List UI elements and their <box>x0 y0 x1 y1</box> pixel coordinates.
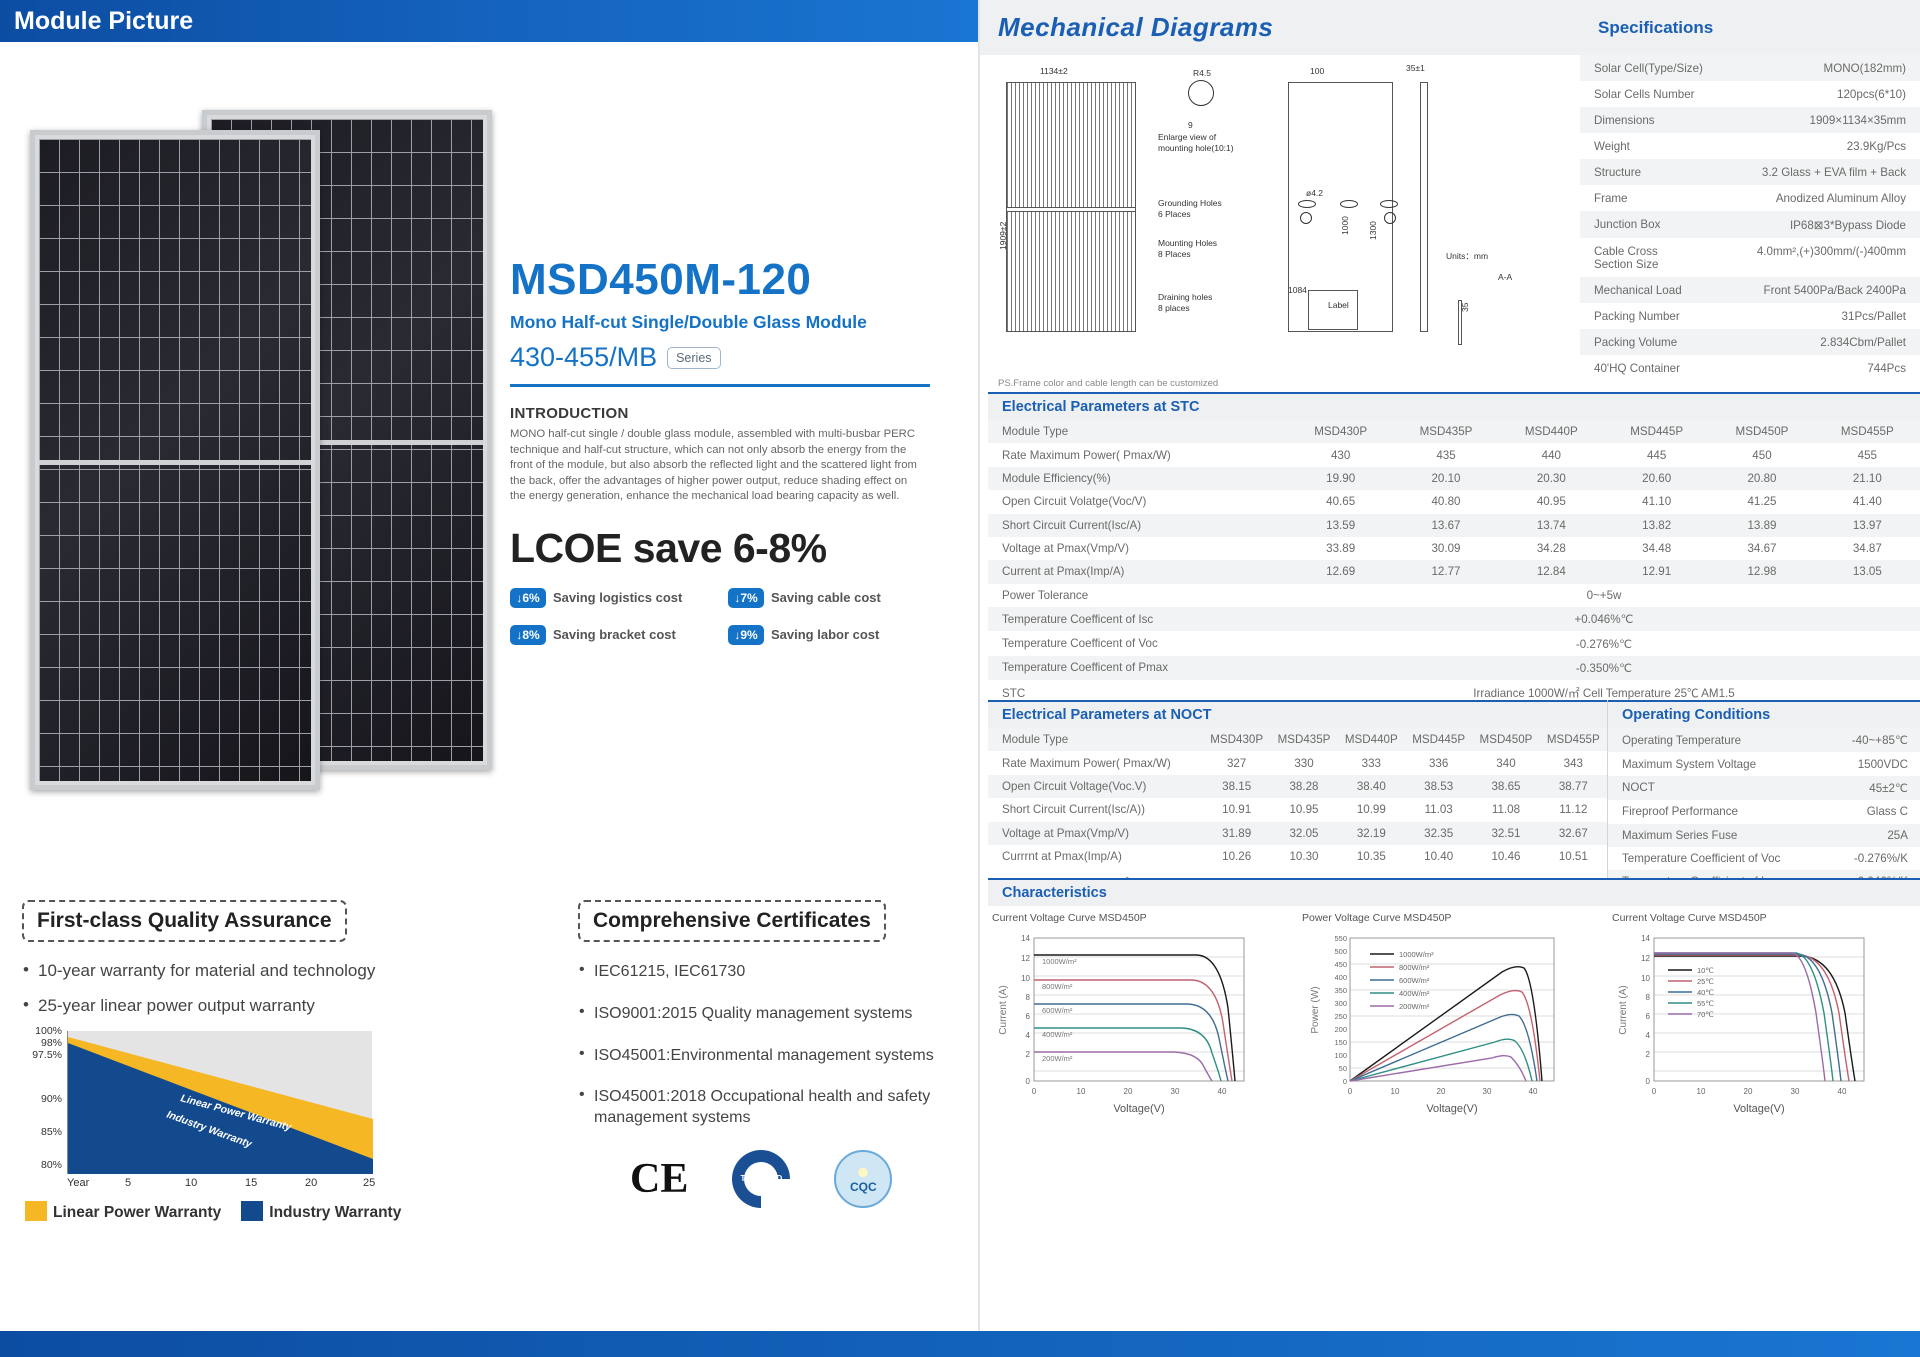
solar-panel-front <box>30 130 320 790</box>
cell: 38.53 <box>1405 775 1472 798</box>
cell: 445 <box>1604 443 1709 466</box>
cell: Glass C <box>1831 800 1920 823</box>
series-600 <box>1034 1004 1228 1081</box>
svg-text:40: 40 <box>1838 1087 1847 1096</box>
spec-value: 3.2 Glass + EVA film + Back <box>1762 166 1906 179</box>
y-ticks: 14 12 10 8 6 4 2 0 <box>1641 934 1650 1086</box>
table-row: Module Efficiency(%) 19.90 20.10 20.30 2… <box>988 467 1920 490</box>
svg-text:8: 8 <box>1026 993 1031 1002</box>
list-item: 25-year linear power output warranty <box>22 996 442 1016</box>
svg-text:300: 300 <box>1334 999 1347 1008</box>
cell: 12.84 <box>1499 560 1604 583</box>
title-divider <box>510 384 930 387</box>
y-tick-85: 85% <box>21 1126 67 1138</box>
ce-mark-icon: CE <box>630 1155 688 1203</box>
row-label: Rate Maximum Power( Pmax/W) <box>988 751 1203 774</box>
table-row: Open Circuit Voltage(Voc.V) 38.15 38.28 … <box>988 775 1607 798</box>
cell: 13.89 <box>1709 514 1814 537</box>
cell: MSD455P <box>1540 728 1607 751</box>
svg-text:800W/m²: 800W/m² <box>1042 982 1073 991</box>
label-draining-places: 8 places <box>1158 303 1190 313</box>
label-enlarge-1: Enlarge view of <box>1158 132 1216 142</box>
cell: 10.30 <box>1270 845 1337 868</box>
cell: 25A <box>1831 824 1920 847</box>
cell: 10.46 <box>1472 845 1539 868</box>
svg-text:14: 14 <box>1641 934 1650 943</box>
cell: 435 <box>1393 443 1498 466</box>
row-label: NOCT <box>1608 776 1831 800</box>
legend-label: 800W/m² <box>1399 963 1430 972</box>
svg-text:0: 0 <box>1343 1077 1347 1086</box>
svg-text:50: 50 <box>1339 1064 1347 1073</box>
table-row: Packing Volume2.834Cbm/Pallet <box>1580 329 1920 355</box>
y-tick-975: 97.5% <box>21 1049 67 1061</box>
operating-conditions-wrap: Operating Conditions Operating Temperatu… <box>1608 700 1920 895</box>
table-row: Temperature Coefficent of Isc +0.046%℃ <box>988 607 1920 631</box>
cell: 32.35 <box>1405 822 1472 845</box>
cell: 41.10 <box>1604 490 1709 513</box>
quality-assurance-title: First-class Quality Assurance <box>22 900 347 942</box>
legend: 1000W/m² 800W/m² 600W/m² 400W/m² 200W/m² <box>1370 950 1434 1011</box>
cell: 33.89 <box>1288 537 1393 560</box>
svg-text:0: 0 <box>1026 1077 1031 1086</box>
cell: 13.97 <box>1815 514 1920 537</box>
x-axis-label: Voltage(V) <box>1426 1103 1477 1115</box>
warranty-plot-area: Linear Power Warranty Industry Warranty <box>67 1031 372 1174</box>
dim-1134: 1134±2 <box>1040 66 1068 76</box>
mounting-oval-3 <box>1380 200 1398 208</box>
cell: 11.08 <box>1472 798 1539 821</box>
cell: MSD440P <box>1499 420 1604 443</box>
svg-text:10: 10 <box>1077 1087 1086 1096</box>
cell: 20.60 <box>1604 467 1709 490</box>
row-label: Temperature Coefficent of Isc <box>988 607 1288 631</box>
svg-text:30: 30 <box>1171 1087 1180 1096</box>
series-70c <box>1654 953 1825 1081</box>
y-axis-label: Current (A) <box>1618 985 1629 1034</box>
introduction-heading: INTRODUCTION <box>510 405 950 422</box>
cell: 21.10 <box>1815 467 1920 490</box>
legend-label: 70℃ <box>1697 1010 1714 1019</box>
row-label: Rate Maximum Power( Pmax/W) <box>988 443 1288 466</box>
warranty-chart: 100% 98% 97.5% 90% 85% 80% Linear Power … <box>67 1031 417 1191</box>
dim-1909: 1909±2 <box>998 222 1008 250</box>
saving-item: ↓7% Saving cable cost <box>728 588 946 608</box>
cell: MSD430P <box>1288 420 1393 443</box>
panel-edge-view <box>1420 82 1428 332</box>
svg-text:6: 6 <box>1646 1012 1651 1021</box>
chart-title: Power Voltage Curve MSD450P <box>1302 912 1604 924</box>
table-row: Fireproof PerformanceGlass C <box>1608 800 1920 823</box>
cell: MSD445P <box>1604 420 1709 443</box>
row-label: Power Tolerance <box>988 584 1288 607</box>
cell: 40.95 <box>1499 490 1604 513</box>
spec-key: Dimensions <box>1594 114 1655 127</box>
spec-key: Solar Cell(Type/Size) <box>1594 62 1703 75</box>
legend: 10℃ 25℃ 40℃ 55℃ 70℃ <box>1668 966 1714 1019</box>
list-item: IEC61215, IEC61730 <box>578 962 978 983</box>
svg-text:20: 20 <box>1124 1087 1133 1096</box>
label-mounting-places: 8 Places <box>1158 249 1191 259</box>
row-label: Maximum Series Fuse <box>1608 824 1831 847</box>
spec-key: Frame <box>1594 192 1628 205</box>
cell: 10.99 <box>1338 798 1405 821</box>
stc-table: Module Type MSD430P MSD435P MSD440P MSD4… <box>988 420 1920 707</box>
cell: 11.03 <box>1405 798 1472 821</box>
row-label: Currrnt at Pmax(Imp/A) <box>988 845 1203 868</box>
table-row: NOCT45±2℃ <box>1608 776 1920 800</box>
svg-text:550: 550 <box>1334 934 1347 943</box>
svg-text:8: 8 <box>1646 993 1651 1002</box>
table-row: Current at Pmax(Imp/A) 12.69 12.77 12.84… <box>988 560 1920 583</box>
specifications-table: Solar Cell(Type/Size)MONO(182mm) Solar C… <box>1580 55 1920 381</box>
module-picture-header: Module Picture <box>0 0 980 42</box>
legend-item-linear: Linear Power Warranty <box>25 1201 221 1222</box>
cell: 45±2℃ <box>1831 776 1920 800</box>
cell: 38.65 <box>1472 775 1539 798</box>
cell: 34.67 <box>1709 537 1814 560</box>
product-subtitle: Mono Half-cut Single/Double Glass Module <box>510 312 950 333</box>
series-badge: Series <box>667 347 720 369</box>
svg-text:20: 20 <box>1744 1087 1753 1096</box>
iv-temperature-chart: Current Voltage Curve MSD450P <box>1608 912 1918 1128</box>
table-row: Temperature Coefficent of Voc -0.276%℃ <box>988 631 1920 655</box>
noct-title: Electrical Parameters at NOCT <box>988 700 1607 728</box>
cell: 450 <box>1709 443 1814 466</box>
cell: 12.77 <box>1393 560 1498 583</box>
cell: 12.98 <box>1709 560 1814 583</box>
legend-label-linear: Linear Power Warranty <box>53 1204 221 1221</box>
cell: 32.05 <box>1270 822 1337 845</box>
cell: 38.28 <box>1270 775 1337 798</box>
list-item: 10-year warranty for material and techno… <box>22 961 442 981</box>
table-row: Maximum System Voltage1500VDC <box>1608 752 1920 775</box>
svg-text:400: 400 <box>1334 973 1347 982</box>
x-axis-label: Voltage(V) <box>1733 1103 1784 1115</box>
cell: MSD440P <box>1338 728 1405 751</box>
cell: 40.65 <box>1288 490 1393 513</box>
saving-item: ↓8% Saving bracket cost <box>510 625 728 645</box>
noct-section: Electrical Parameters at NOCT Module Typ… <box>988 700 1920 895</box>
certificates-list: IEC61215, IEC61730 ISO9001:2015 Quality … <box>578 962 978 1129</box>
spec-value: 120pcs(6*10) <box>1837 88 1906 101</box>
svg-text:30: 30 <box>1483 1087 1492 1096</box>
mechanical-diagrams-title: Mechanical Diagrams <box>998 12 1273 43</box>
spec-key: Weight <box>1594 140 1630 153</box>
svg-text:40: 40 <box>1529 1087 1538 1096</box>
cell: 11.12 <box>1540 798 1607 821</box>
warranty-legend: Linear Power Warranty Industry Warranty <box>25 1201 401 1222</box>
y-tick-98: 98% <box>21 1037 67 1049</box>
cell: -0.350%℃ <box>1288 656 1920 680</box>
row-label: Open Circuit Volatge(Voc/V) <box>988 490 1288 513</box>
svg-text:10: 10 <box>1391 1087 1400 1096</box>
svg-text:0: 0 <box>1652 1087 1657 1096</box>
cell: 38.77 <box>1540 775 1607 798</box>
row-label: Maximum System Voltage <box>1608 752 1831 775</box>
table-row: Module Type MSD430P MSD435P MSD440P MSD4… <box>988 728 1607 751</box>
dim-1084: 1084 <box>1288 285 1307 295</box>
label-grounding-places: 6 Places <box>1158 209 1191 219</box>
x-axis-label: Voltage(V) <box>1113 1103 1164 1115</box>
dim-9: 9 <box>1188 120 1193 130</box>
table-row: Cable Cross Section Size4.0mm²,(+)300mm/… <box>1580 238 1920 277</box>
saving-item: ↓6% Saving logistics cost <box>510 588 728 608</box>
cell: -0.276%/K <box>1831 847 1920 870</box>
certificates-section: Comprehensive Certificates IEC61215, IEC… <box>578 900 978 1208</box>
mechanical-note: PS.Frame color and cable length can be c… <box>998 378 1218 389</box>
cell: 41.40 <box>1815 490 1920 513</box>
cell: 10.51 <box>1540 845 1607 868</box>
cell: 12.91 <box>1604 560 1709 583</box>
table-row: Open Circuit Volatge(Voc/V) 40.65 40.80 … <box>988 490 1920 513</box>
cell: 40.80 <box>1393 490 1498 513</box>
saving-badge: ↓7% <box>728 588 764 608</box>
lcoe-headline: LCOE save 6-8% <box>510 525 950 572</box>
table-row: Operating Temperature-40~+85℃ <box>1608 728 1920 752</box>
characteristics-title: Characteristics <box>988 878 1920 906</box>
saving-item: ↓9% Saving labor cost <box>728 625 946 645</box>
svg-text:100: 100 <box>1334 1051 1347 1060</box>
cell: 20.30 <box>1499 467 1604 490</box>
pv-irradiance-svg: 550 500 450 400 350 300 250 200 150 100 … <box>1302 928 1602 1128</box>
table-row: Currrnt at Pmax(Imp/A) 10.26 10.30 10.35… <box>988 845 1607 868</box>
stc-section: Electrical Parameters at STC Module Type… <box>988 392 1920 725</box>
list-item: ISO9001:2015 Quality management systems <box>578 1004 978 1025</box>
cell: 20.80 <box>1709 467 1814 490</box>
table-row: Junction BoxIP68⊠3*Bypass Diode <box>1580 211 1920 238</box>
cell: MSD450P <box>1709 420 1814 443</box>
cell: 0~+5w <box>1288 584 1920 607</box>
legend-label: 40℃ <box>1697 988 1714 997</box>
cell: 12.69 <box>1288 560 1393 583</box>
certificates-title: Comprehensive Certificates <box>578 900 886 942</box>
cell: 13.67 <box>1393 514 1498 537</box>
y-tick-90: 90% <box>21 1093 67 1105</box>
cell: 20.10 <box>1393 467 1498 490</box>
row-label: Temperature Coefficent of Pmax <box>988 656 1288 680</box>
spec-value: MONO(182mm) <box>1824 62 1906 75</box>
legend-swatch-industry <box>241 1201 263 1221</box>
x-tick-15: 15 <box>245 1177 257 1189</box>
cell: 13.59 <box>1288 514 1393 537</box>
quality-assurance-section: First-class Quality Assurance 10-year wa… <box>22 900 442 1191</box>
spec-value: Anodized Aluminum Alloy <box>1776 192 1906 205</box>
legend-swatch-linear <box>25 1201 47 1221</box>
svg-text:20: 20 <box>1437 1087 1446 1096</box>
cell: 19.90 <box>1288 467 1393 490</box>
savings-grid: ↓6% Saving logistics cost ↓7% Saving cab… <box>510 588 950 645</box>
saving-badge: ↓8% <box>510 625 546 645</box>
cell: 34.28 <box>1499 537 1604 560</box>
row-label: Temperature Coefficient of Voc <box>1608 847 1831 870</box>
mechanical-diagrams-header: Mechanical Diagrams <box>980 0 1580 55</box>
legend-label-industry: Industry Warranty <box>269 1204 401 1221</box>
svg-text:200: 200 <box>1334 1025 1347 1034</box>
table-row: Maximum Series Fuse25A <box>1608 824 1920 847</box>
iv-irradiance-svg: 14 12 10 8 6 4 2 0 0 10 20 30 40 <box>992 928 1292 1128</box>
cell: 38.15 <box>1203 775 1270 798</box>
legend-label: 200W/m² <box>1399 1002 1430 1011</box>
spec-key: Junction Box <box>1594 218 1660 232</box>
x-tick-5: 5 <box>125 1177 131 1189</box>
cell: 430 <box>1288 443 1393 466</box>
spec-key: Packing Number <box>1594 310 1680 323</box>
label-mounting-holes: Mounting Holes <box>1158 238 1217 248</box>
y-ticks: 550 500 450 400 350 300 250 200 150 100 … <box>1334 934 1347 1086</box>
mechanical-drawing: 1134±2 1909±2 100 35±1 1000 1300 1084 ø4… <box>988 60 1580 370</box>
cell: 30.09 <box>1393 537 1498 560</box>
table-row: Structure3.2 Glass + EVA film + Back <box>1580 159 1920 185</box>
characteristics-section: Characteristics Current Voltage Curve MS… <box>988 878 1920 1128</box>
svg-text:250: 250 <box>1334 1012 1347 1021</box>
cell: 440 <box>1499 443 1604 466</box>
svg-text:500: 500 <box>1334 947 1347 956</box>
y-axis-label: Power (W) <box>1310 986 1321 1033</box>
row-label: Temperature Coefficent of Voc <box>988 631 1288 655</box>
spec-value: 1909×1134×35mm <box>1810 114 1906 127</box>
row-label: Short Circuit Current(Isc/A) <box>988 514 1288 537</box>
cell: MSD445P <box>1405 728 1472 751</box>
table-row: Packing Number31Pcs/Pallet <box>1580 303 1920 329</box>
enlarge-hole-circle <box>1188 80 1214 106</box>
label-enlarge-2: mounting hole(10:1) <box>1158 143 1234 153</box>
label-grounding-holes: Grounding Holes <box>1158 198 1222 208</box>
specifications-header: Specifications <box>1580 0 1920 55</box>
chart-title: Current Voltage Curve MSD450P <box>1612 912 1914 924</box>
cell: 333 <box>1338 751 1405 774</box>
chart-title: Current Voltage Curve MSD450P <box>992 912 1294 924</box>
table-row: Module Type MSD430P MSD435P MSD440P MSD4… <box>988 420 1920 443</box>
spec-value: 2.834Cbm/Pallet <box>1820 336 1906 349</box>
cell: 32.19 <box>1338 822 1405 845</box>
grounding-circle-2 <box>1384 212 1396 224</box>
table-row: FrameAnodized Aluminum Alloy <box>1580 185 1920 211</box>
cell: 13.74 <box>1499 514 1604 537</box>
table-row: Temperature Coefficient of Voc-0.276%/K <box>1608 847 1920 870</box>
svg-text:0: 0 <box>1348 1087 1353 1096</box>
cell: 38.40 <box>1338 775 1405 798</box>
cell: 336 <box>1405 751 1472 774</box>
page-title: MSD450M-120 <box>510 255 950 305</box>
svg-text:4: 4 <box>1646 1031 1651 1040</box>
svg-text:0: 0 <box>1032 1087 1037 1096</box>
saving-badge: ↓9% <box>728 625 764 645</box>
legend-label: 400W/m² <box>1399 989 1430 998</box>
series-400 <box>1350 1039 1532 1081</box>
footer-bar <box>0 1331 1920 1357</box>
y-axis-label: Current (A) <box>998 985 1009 1034</box>
svg-text:4: 4 <box>1026 1031 1031 1040</box>
svg-text:450: 450 <box>1334 960 1347 969</box>
svg-text:10: 10 <box>1641 974 1650 983</box>
table-row: Rate Maximum Power( Pmax/W) 430 435 440 … <box>988 443 1920 466</box>
panel-front-view <box>1006 82 1136 332</box>
row-label: Module Type <box>988 728 1203 751</box>
svg-text:10: 10 <box>1021 974 1030 983</box>
spec-value: Front 5400Pa/Back 2400Pa <box>1764 284 1906 297</box>
row-label: Short Circuit Current(Isc/A)) <box>988 798 1203 821</box>
spec-key: 40'HQ Container <box>1594 362 1680 375</box>
table-row: Voltage at Pmax(Vmp/V) 33.89 30.09 34.28… <box>988 537 1920 560</box>
table-row: Temperature Coefficent of Pmax -0.350%℃ <box>988 656 1920 680</box>
dim-r45: R4.5 <box>1193 68 1211 78</box>
list-item: ISO45001:2018 Occupational health and sa… <box>578 1087 978 1129</box>
quality-bullets: 10-year warranty for material and techno… <box>22 961 442 1016</box>
tuv-nord-icon: TUV NORD <box>732 1150 790 1208</box>
cell: 10.40 <box>1405 845 1472 868</box>
spec-value: 31Pcs/Pallet <box>1842 310 1906 323</box>
iv-irradiance-chart: Current Voltage Curve MSD450P <box>988 912 1298 1128</box>
svg-text:200W/m²: 200W/m² <box>1042 1054 1073 1063</box>
dim-1300: 1300 <box>1368 221 1378 240</box>
row-label: Open Circuit Voltage(Voc.V) <box>988 775 1203 798</box>
legend-label: 1000W/m² <box>1399 950 1434 959</box>
table-row: Solar Cells Number120pcs(6*10) <box>1580 81 1920 107</box>
legend-label: 10℃ <box>1697 966 1714 975</box>
cell: 13.05 <box>1815 560 1920 583</box>
cqc-label: CQC <box>850 1180 877 1206</box>
operating-conditions-table: Operating Temperature-40~+85℃ Maximum Sy… <box>1608 728 1920 894</box>
legend-label: 55℃ <box>1697 999 1714 1008</box>
svg-text:2: 2 <box>1026 1050 1031 1059</box>
operating-conditions-title: Operating Conditions <box>1608 700 1920 728</box>
cell: 10.26 <box>1203 845 1270 868</box>
cell: 1500VDC <box>1831 752 1920 775</box>
introduction-body: MONO half-cut single / double glass modu… <box>510 427 920 505</box>
svg-text:2: 2 <box>1646 1050 1651 1059</box>
iv-temperature-svg: 14 12 10 8 6 4 2 0 0 10 20 30 40 <box>1612 928 1912 1128</box>
row-label: Current at Pmax(Imp/A) <box>988 560 1288 583</box>
x-ticks: 0 10 20 30 40 <box>1348 1087 1538 1096</box>
dim-d42: ø4.2 <box>1306 188 1323 198</box>
cqc-icon: CQC <box>834 1150 892 1208</box>
right-column: Mechanical Diagrams Specifications Solar… <box>980 0 1920 1357</box>
cell: MSD435P <box>1393 420 1498 443</box>
cell: 13.82 <box>1604 514 1709 537</box>
row-label: Fireproof Performance <box>1608 800 1831 823</box>
cell: 31.89 <box>1203 822 1270 845</box>
cell: -40~+85℃ <box>1831 728 1920 752</box>
svg-text:30: 30 <box>1791 1087 1800 1096</box>
svg-text:40: 40 <box>1218 1087 1227 1096</box>
cell: 32.51 <box>1472 822 1539 845</box>
cell: 327 <box>1203 751 1270 774</box>
cell: 34.87 <box>1815 537 1920 560</box>
svg-text:600W/m²: 600W/m² <box>1042 1006 1073 1015</box>
spec-key: Structure <box>1594 166 1641 179</box>
cell: 32.67 <box>1540 822 1607 845</box>
spec-value: 744Pcs <box>1867 362 1906 375</box>
cell: 34.48 <box>1604 537 1709 560</box>
spec-value: 4.0mm²,(+)300mm/(-)400mm <box>1757 245 1906 271</box>
x-ticks: 0 10 20 30 40 <box>1652 1087 1847 1096</box>
product-range: 430-455/MB <box>510 342 657 373</box>
certificate-logos: CE TUV NORD CQC <box>578 1150 978 1208</box>
cell: 41.25 <box>1709 490 1814 513</box>
x-ticks: 0 10 20 30 40 <box>1032 1087 1227 1096</box>
series-800 <box>1350 991 1540 1081</box>
mounting-oval-1 <box>1298 200 1316 208</box>
noct-table-wrap: Electrical Parameters at NOCT Module Typ… <box>988 700 1608 895</box>
cell: MSD435P <box>1270 728 1337 751</box>
cell: MSD455P <box>1815 420 1920 443</box>
x-tick-20: 20 <box>305 1177 317 1189</box>
y-tick-80: 80% <box>21 1159 67 1171</box>
frame-section-profile <box>1458 300 1462 345</box>
y-tick-100: 100% <box>21 1025 67 1037</box>
table-row: Short Circuit Current(Isc/A)) 10.91 10.9… <box>988 798 1607 821</box>
